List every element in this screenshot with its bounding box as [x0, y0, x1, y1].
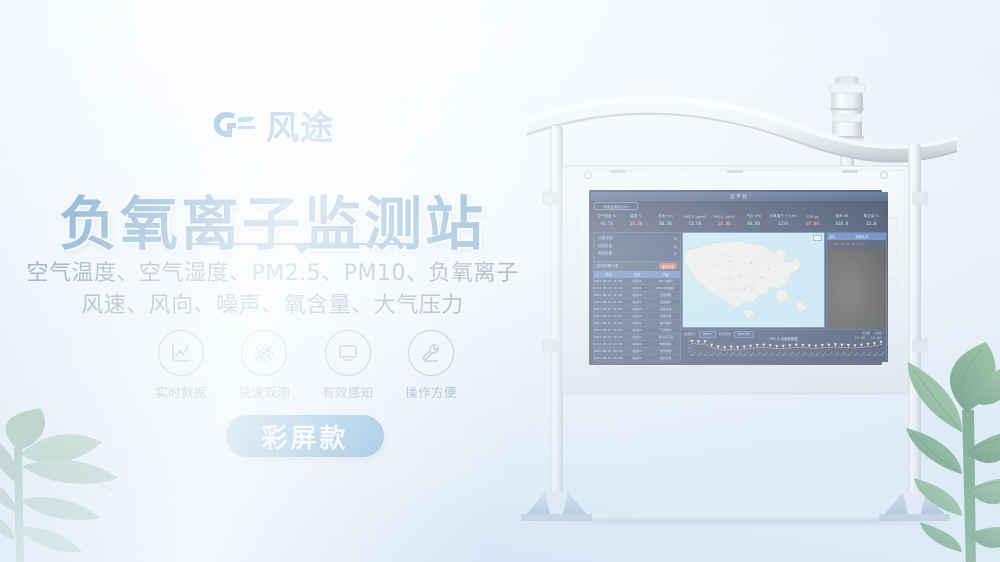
table-row[interactable]: 2023-08-21 10:55:18站点03设备离线	[594, 306, 680, 313]
kpi-label: 氧含量 %	[864, 214, 879, 219]
svg-text:01:00: 01:00	[854, 352, 859, 357]
china-map[interactable]	[682, 232, 825, 328]
feature-item-effective-sensing[interactable]: 有效感知	[312, 330, 384, 401]
svg-text:16:00: 16:00	[796, 352, 801, 357]
wrench-icon	[408, 330, 454, 376]
table-row[interactable]: 2023-08-21 11:18:10站点01PM10浓度偏高	[594, 285, 680, 292]
kpi-value: 00.30	[659, 221, 672, 226]
cell-content: 通讯中断	[651, 348, 680, 354]
kpi-value: 16.00	[718, 221, 731, 226]
svg-text:14:00: 14:00	[783, 352, 788, 357]
stat-value: 5	[674, 236, 676, 241]
svg-text:18:00: 18:00	[809, 352, 814, 357]
svg-text:19:00: 19:00	[815, 352, 820, 357]
cell-site: 站点01	[623, 355, 652, 361]
cell-content: PM2.5超标	[651, 278, 680, 284]
kpi-label: 风速 m/s	[658, 214, 673, 219]
svg-text:40: 40	[688, 341, 691, 343]
svg-text:02:00: 02:00	[704, 352, 709, 357]
map-zoom-control-icon[interactable]	[813, 235, 822, 241]
feature-label: 快速观测	[239, 382, 291, 401]
monitor-screen-icon	[325, 330, 371, 376]
cell-content: 负氧离子低	[651, 334, 680, 340]
kpi-value: 035.0	[836, 221, 849, 226]
cell-site: 站点03	[623, 348, 652, 354]
kpi-value: 13.00	[689, 221, 702, 226]
kpi-label: 空气湿度 %	[597, 214, 616, 219]
map-svg	[683, 233, 824, 327]
cell-time: 2023-08-21 10:55:18	[594, 306, 623, 312]
title-divider	[190, 240, 412, 252]
column-header: 内容	[651, 271, 680, 278]
cell-time: 2023-08-21 10:10:03	[594, 334, 623, 340]
canopy-roof	[527, 96, 957, 162]
kpi-item: 空气湿度 % 45.78	[592, 210, 621, 230]
column-header: 站点	[623, 271, 652, 278]
svg-text:04:00: 04:00	[717, 352, 722, 357]
trend-chart-panel: 监测因子 PM2.5 时间范围 近24小时 实测值 标准值 PM2.5 浓度趋势…	[682, 329, 885, 361]
legend-item-measured: 实测值	[862, 331, 870, 335]
cell-content: 风速异常	[651, 313, 680, 319]
cell-content: 气压波动	[651, 327, 680, 333]
cell-site: 站点02	[623, 292, 652, 298]
cell-time: 2023-08-21 10:47:06	[594, 313, 623, 319]
ground-shadow	[545, 519, 945, 524]
stat-row: 离线设备 2	[598, 251, 676, 256]
kpi-value: 26.30	[630, 221, 643, 226]
cell-content: 恢复正常	[651, 355, 680, 361]
cell-content: 温度超限	[651, 292, 680, 298]
table-row[interactable]: 2023-08-21 11:10:55站点02温度超限	[594, 292, 680, 299]
kpi-item: 气压 hPa 98.00	[739, 210, 768, 230]
svg-text:05:00: 05:00	[724, 352, 729, 357]
table-row[interactable]: 2023-08-21 11:02:41站点01湿度超标	[594, 299, 680, 306]
svg-text:06:00: 06:00	[730, 352, 735, 357]
kpi-value: 1230	[778, 221, 788, 226]
svg-text:20: 20	[688, 348, 691, 350]
stat-row: 设备总数 5	[598, 236, 676, 241]
cell-content: PM10浓度偏高	[651, 285, 680, 291]
svg-text:21:00: 21:00	[828, 352, 833, 357]
cell-content: 设备离线	[651, 306, 680, 312]
svg-text:30: 30	[688, 345, 691, 347]
cell-time: 2023-08-21 11:10:55	[594, 292, 623, 298]
cell-site: 站点01	[623, 320, 652, 326]
cell-site: 站点01	[623, 278, 652, 284]
alert-banner: 1 2023-08-21 11:20:32	[827, 240, 886, 247]
kpi-label: 负氧离子 个/cm³	[770, 214, 797, 219]
alert-index: 1	[829, 242, 831, 246]
legend-item-standard: 标准值	[874, 331, 882, 335]
brand-logo: 风途	[0, 104, 545, 150]
svg-text:03:00: 03:00	[711, 352, 716, 357]
kpi-item: 噪声 dB 035.0	[827, 210, 856, 230]
table-row[interactable]: 2023-08-21 09:30:11站点01恢复正常	[594, 355, 680, 362]
left-data-panel: 设备总数 5 在线设备 3 离线设备 2 实时报警记录 更多记录 时间 站点	[593, 232, 681, 360]
svg-text:10: 10	[688, 352, 691, 354]
alarm-table-title: 实时报警记录	[597, 264, 619, 269]
plant-decoration-right	[862, 340, 1000, 562]
line-chart-icon	[158, 330, 204, 376]
stat-value: 2	[674, 251, 676, 256]
kpi-item: 温度 ℃ 26.30	[621, 210, 650, 230]
cell-site: 站点02	[623, 313, 652, 319]
table-row[interactable]: 2023-08-21 10:21:47站点04气压波动	[594, 327, 680, 334]
kpi-label: 噪声 dB	[835, 214, 848, 219]
kpi-value: 98.00	[747, 221, 760, 226]
table-row[interactable]: 2023-08-21 09:58:22站点02数据缺失	[594, 341, 680, 348]
cell-site: 站点01	[623, 299, 652, 305]
stat-row: 在线设备 3	[598, 244, 676, 249]
subtitle-block: 空气温度、空气湿度、PM2.5、PM10、负氧离子 风速、风向、噪声、氧含量、大…	[0, 258, 545, 322]
svg-text:08:00: 08:00	[743, 352, 748, 357]
kpi-label: 气压 hPa	[746, 214, 761, 219]
alarm-table-body[interactable]: 2023-08-21 11:20:32站点01PM2.5超标 2023-08-2…	[594, 278, 680, 362]
station-selector-pill[interactable]: 风途监测站点01	[594, 202, 638, 210]
kpi-item: 负氧离子 个/cm³ 1230	[768, 210, 797, 230]
svg-text:00:00: 00:00	[848, 352, 853, 357]
column-header: 时间	[594, 271, 623, 278]
kpi-label: PM2.5 ug/m³	[684, 215, 707, 219]
table-row[interactable]: 2023-08-21 10:33:29站点01噪声超标	[594, 320, 680, 327]
subtitle-line-1: 空气温度、空气湿度、PM2.5、PM10、负氧离子	[0, 258, 545, 290]
kpi-value: 07.00	[806, 221, 819, 226]
trend-line-svg: 01020304000:0001:0002:0003:0004:0005:000…	[682, 339, 885, 361]
stat-value: 3	[674, 244, 676, 249]
kpi-item: 氧含量 % 21.0	[857, 210, 886, 230]
svg-text:09:00: 09:00	[750, 352, 755, 357]
feature-item-fast-observation[interactable]: 快速观测	[228, 330, 300, 401]
kpi-item: PM2.5 ug/m³ 13.00	[680, 210, 709, 230]
stat-label: 设备总数	[598, 236, 612, 241]
cell-content: 数据缺失	[651, 341, 680, 347]
tab-monitor[interactable]: 监控	[827, 233, 837, 240]
fengtu-leaf-g-logo-icon	[211, 110, 257, 144]
alert-time: 2023-08-21 11:20:32	[833, 242, 865, 246]
down-triangle-icon	[293, 244, 311, 254]
tab-live-view[interactable]: 现场实景	[837, 233, 886, 240]
cell-time: 2023-08-21 11:02:41	[594, 299, 623, 305]
kpi-label: 温度 ℃	[630, 214, 642, 219]
svg-text:13:00: 13:00	[776, 352, 781, 357]
feature-label: 实时数据	[155, 382, 207, 401]
kpi-item: PM10 ug/m³ 16.00	[710, 210, 739, 230]
cell-time: 2023-08-21 10:33:29	[594, 320, 623, 326]
stat-label: 在线设备	[598, 244, 612, 249]
svg-text:17:00: 17:00	[802, 352, 807, 357]
cell-time: 2023-08-21 09:58:22	[594, 341, 623, 347]
table-row[interactable]: 2023-08-21 09:44:50站点03通讯中断	[594, 348, 680, 355]
table-row[interactable]: 2023-08-21 10:10:03站点01负氧离子低	[594, 334, 680, 341]
cell-site: 站点02	[623, 341, 652, 347]
left-pole	[550, 126, 563, 498]
svg-text:10:00: 10:00	[756, 352, 761, 357]
kpi-label: PM10 ug/m³	[713, 215, 735, 219]
feature-item-realtime-data[interactable]: 实时数据	[145, 330, 217, 401]
ultrasonic-weather-sensor-icon	[829, 76, 865, 180]
screen-header-title: 云平台	[590, 192, 888, 201]
feature-item-easy-operation[interactable]: 操作方便	[395, 330, 467, 401]
feature-label: 有效感知	[322, 382, 374, 401]
kpi-strip: 空气湿度 % 45.78 温度 ℃ 26.30 风速 m/s 00.30 PM2…	[592, 210, 886, 230]
chart-plot-area: 01020304000:0001:0002:0003:0004:0005:000…	[682, 339, 885, 361]
cell-content: 噪声超标	[651, 320, 680, 326]
chart-legend: 实测值 标准值	[862, 331, 882, 335]
cell-site: 站点01	[623, 334, 652, 340]
feature-list: 实时数据 快速观测	[145, 330, 467, 402]
cell-time: 2023-08-21 09:44:50	[594, 348, 623, 354]
cell-time: 2023-08-21 11:20:32	[594, 278, 623, 284]
kpi-value: 21.0	[866, 221, 876, 226]
station-display-screen[interactable]: 云平台 风途监测站点01 空气湿度 % 45.78 温度 ℃ 26.30 风速 …	[590, 192, 888, 362]
kpi-item: TSP μg 07.00	[798, 210, 827, 230]
plant-decoration-left	[0, 408, 157, 562]
device-stats: 设备总数 5 在线设备 3 离线设备 2	[594, 233, 680, 261]
cell-content: 湿度超标	[651, 299, 680, 305]
alarm-table-columns: 时间 站点 内容	[594, 271, 680, 278]
cell-site: 站点01	[623, 285, 652, 291]
svg-text:07:00: 07:00	[737, 352, 742, 357]
feature-label: 操作方便	[405, 382, 457, 401]
kpi-value: 45.78	[600, 221, 613, 226]
promo-banner: 云平台 风途监测站点01 空气湿度 % 45.78 温度 ℃ 26.30 风速 …	[0, 0, 1000, 562]
brand-name: 风途	[266, 111, 334, 144]
table-row[interactable]: 2023-08-21 10:47:06站点02风速异常	[594, 313, 680, 320]
svg-text:23:00: 23:00	[841, 352, 846, 357]
subtitle-line-2: 风速、风向、噪声、氧含量、大气压力	[0, 290, 545, 322]
more-records-button[interactable]: 更多记录	[659, 263, 677, 269]
cell-site: 站点03	[623, 306, 652, 312]
cell-time: 2023-08-21 10:21:47	[594, 327, 623, 333]
kpi-label: TSP μg	[806, 215, 818, 219]
cell-time: 2023-08-21 11:18:10	[594, 285, 623, 291]
cell-site: 站点04	[623, 327, 652, 333]
kpi-item: 风速 m/s 00.30	[651, 210, 680, 230]
svg-text:11:00: 11:00	[763, 352, 768, 357]
alarm-table-header: 实时报警记录 更多记录	[594, 261, 680, 271]
svg-text:12:00: 12:00	[769, 352, 774, 357]
svg-text:20:00: 20:00	[822, 352, 827, 357]
svg-text:01:00: 01:00	[698, 352, 703, 357]
svg-text:15:00: 15:00	[789, 352, 794, 357]
radar-scan-icon	[241, 330, 287, 376]
stat-label: 离线设备	[598, 251, 612, 256]
table-row[interactable]: 2023-08-21 11:20:32站点01PM2.5超标	[594, 278, 680, 285]
cell-time: 2023-08-21 09:30:11	[594, 355, 623, 361]
color-screen-button[interactable]: 彩屏款	[226, 415, 384, 457]
svg-text:22:00: 22:00	[835, 352, 840, 357]
monitor-tabs[interactable]: 监控 现场实景	[827, 233, 886, 240]
